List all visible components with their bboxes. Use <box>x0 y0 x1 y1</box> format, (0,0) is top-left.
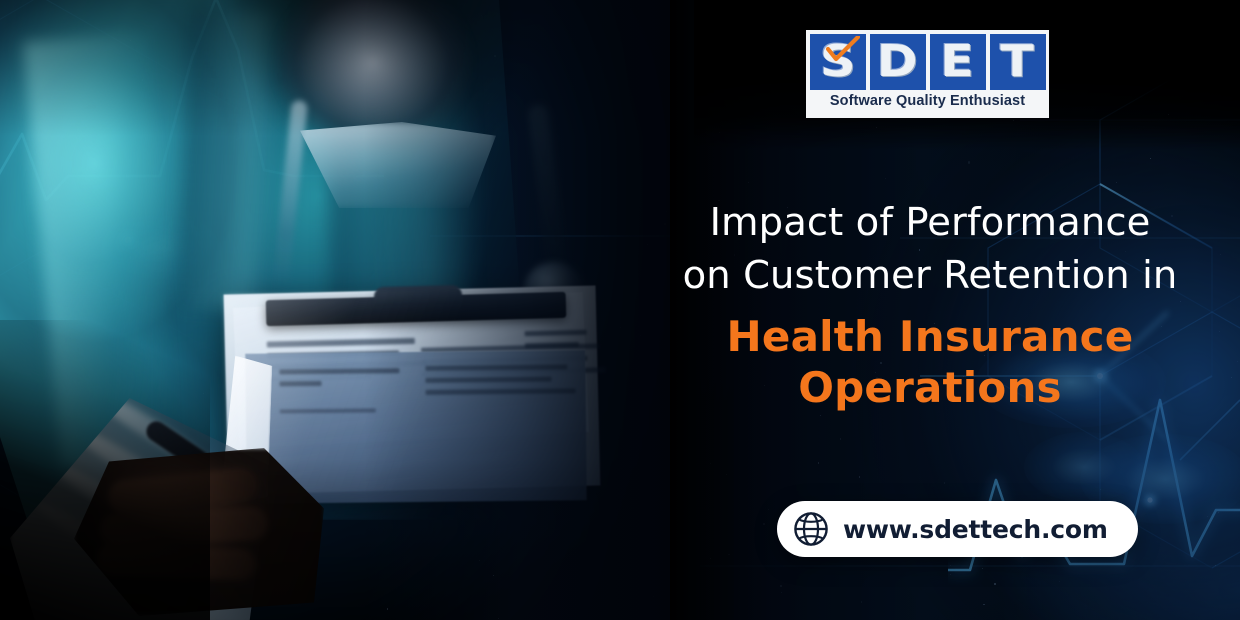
logo-letter-t: T <box>990 34 1046 90</box>
headline-line-1: Impact of Performance <box>660 196 1200 249</box>
logo-letter-e: E <box>930 34 986 90</box>
logo-letter-s: S <box>810 34 866 90</box>
sdet-logo[interactable]: S D E T Software Quality Enthusiast <box>806 30 1049 118</box>
logo-letters: S D E T <box>810 34 1046 90</box>
bottom-left-black-overlay <box>0 320 210 620</box>
logo-letter-s-text: S <box>820 40 856 84</box>
headline-block: Impact of Performance on Customer Retent… <box>660 196 1200 414</box>
headline-accent-line-2: Operations <box>660 361 1200 414</box>
logo-letter-t-text: T <box>1001 40 1035 84</box>
logo-tagline: Software Quality Enthusiast <box>830 93 1025 109</box>
website-url-text: www.sdettech.com <box>843 515 1108 544</box>
promo-banner: S D E T Software Quality Enthusiast Impa… <box>0 0 1240 620</box>
logo-letter-d-text: D <box>877 40 918 84</box>
logo-letter-e-text: E <box>941 40 975 84</box>
headline-line-2: on Customer Retention in <box>660 249 1200 302</box>
logo-letter-d: D <box>870 34 926 90</box>
globe-icon <box>793 511 829 547</box>
headline-accent-line-1: Health Insurance <box>660 310 1200 363</box>
website-badge[interactable]: www.sdettech.com <box>777 501 1138 557</box>
